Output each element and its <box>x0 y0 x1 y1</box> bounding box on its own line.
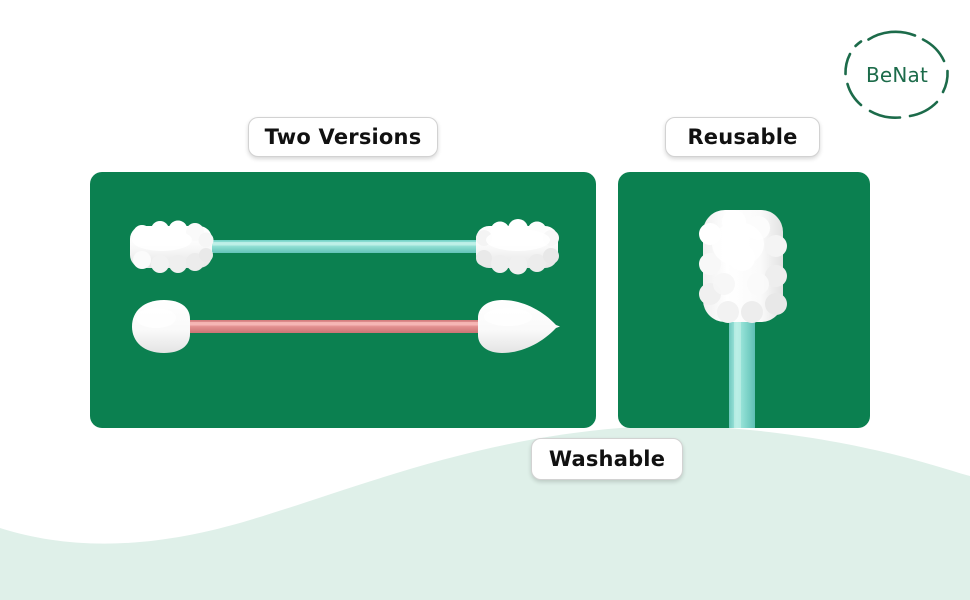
swab-standard-illustration <box>90 190 596 300</box>
swab-makeup <box>90 296 596 406</box>
swab-standard <box>90 190 596 300</box>
swab-tip-left <box>130 221 214 274</box>
reusable-closeup-panel <box>618 172 870 428</box>
swab-tip-closeup-illustration <box>618 172 870 428</box>
two-versions-panel: Standard Make-up <box>90 172 596 428</box>
logo-wordmark: BeNat <box>838 26 956 124</box>
badge-reusable[interactable]: Reusable <box>665 117 820 157</box>
brand-logo: BeNat <box>838 26 956 124</box>
swab-tip-right <box>476 219 559 275</box>
swab-makeup-illustration <box>90 296 596 406</box>
closeup-bumpy-tip <box>699 210 787 323</box>
swab-tip-right-cone <box>478 300 560 353</box>
badge-two-versions[interactable]: Two Versions <box>248 117 438 157</box>
badge-washable[interactable]: Washable <box>531 438 683 480</box>
product-feature-graphic: BeNat Two Versions Reusable Washable <box>0 0 970 600</box>
swab-tip-left-paddle <box>132 300 190 353</box>
background-wave <box>0 400 970 600</box>
